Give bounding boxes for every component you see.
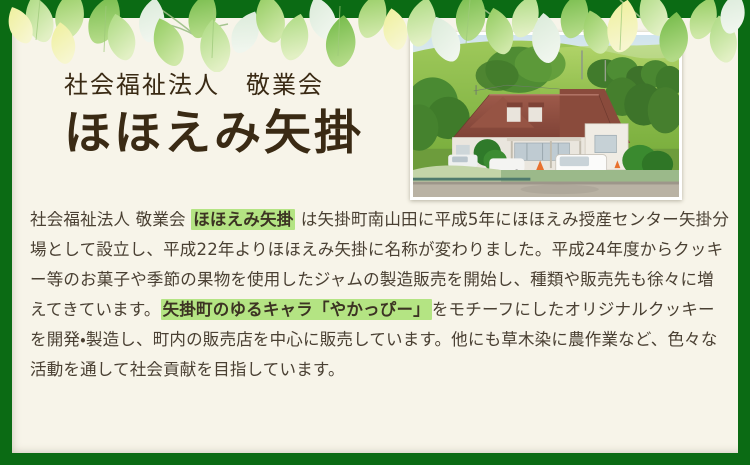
header-title-block: 社会福祉法人 敬業会 ほほえみ矢掛 [64, 72, 364, 164]
description-paragraph: 社会福祉法人 敬業会 ほほえみ矢掛 は矢掛町南山田に平成5年にほほえみ授産センタ… [30, 205, 730, 385]
description-text: 社会福祉法人 敬業会 ほほえみ矢掛 は矢掛町南山田に平成5年にほほえみ授産センタ… [30, 205, 730, 385]
page-title: ほほえみ矢掛 [64, 105, 364, 164]
content-panel: 社会福祉法人 敬業会 ほほえみ矢掛 社会福祉法人 敬業会 ほほえみ矢掛 は矢掛町… [12, 0, 738, 453]
body-text-run: 社会福祉法人 敬業会 [30, 210, 191, 229]
highlighted-term: ほほえみ矢掛 [191, 209, 295, 230]
organization-name: 社会福祉法人 敬業会 [64, 72, 364, 101]
facility-photo-image [413, 35, 679, 197]
page-root: 社会福祉法人 敬業会 ほほえみ矢掛 社会福祉法人 敬業会 ほほえみ矢掛 は矢掛町… [0, 0, 750, 465]
facility-photo [410, 32, 682, 200]
highlighted-term: 矢掛町のゆるキャラ「やかっぴー」 [161, 299, 432, 320]
